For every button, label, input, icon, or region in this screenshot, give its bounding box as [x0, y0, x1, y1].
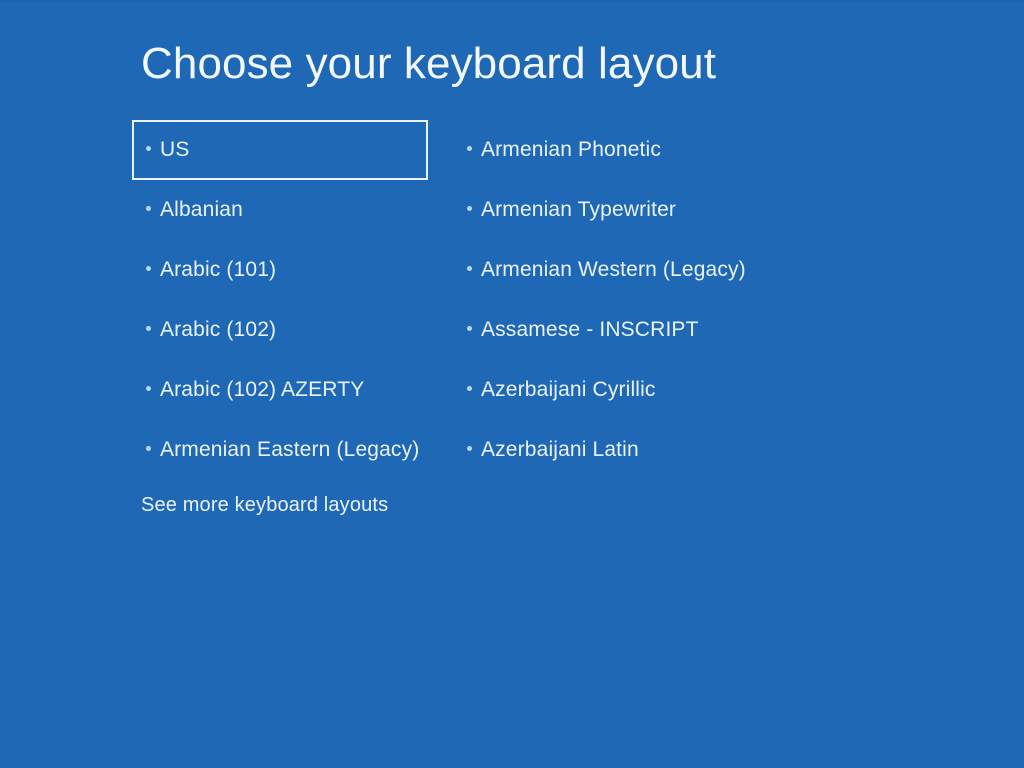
bullet-dot-icon — [467, 446, 472, 451]
bullet-dot-icon — [146, 146, 151, 151]
bullet-dot-icon — [146, 266, 151, 271]
keyboard-layout-option-armenian-eastern-legacy[interactable]: Armenian Eastern (Legacy) — [132, 420, 428, 480]
keyboard-layout-option-azerbaijani-latin[interactable]: Azerbaijani Latin — [455, 420, 855, 480]
keyboard-layout-option-armenian-western-legacy[interactable]: Armenian Western (Legacy) — [455, 240, 855, 300]
keyboard-layout-option-label: Assamese - INSCRIPT — [481, 317, 699, 343]
keyboard-layout-option-label: Armenian Typewriter — [481, 197, 676, 223]
bullet-dot-icon — [146, 206, 151, 211]
keyboard-layout-option-label: Armenian Phonetic — [481, 137, 661, 163]
keyboard-layout-option-label: Armenian Western (Legacy) — [481, 257, 746, 283]
keyboard-layout-option-label: Armenian Eastern (Legacy) — [160, 437, 419, 463]
bullet-dot-icon — [146, 386, 151, 391]
bullet-dot-icon — [146, 446, 151, 451]
bullet-dot-icon — [146, 326, 151, 331]
keyboard-layout-column-left: USAlbanianArabic (101)Arabic (102)Arabic… — [132, 120, 428, 480]
bullet-dot-icon — [467, 386, 472, 391]
keyboard-layout-option-azerbaijani-cyrillic[interactable]: Azerbaijani Cyrillic — [455, 360, 855, 420]
keyboard-layout-option-armenian-phonetic[interactable]: Armenian Phonetic — [455, 120, 855, 180]
keyboard-layout-option-label: Arabic (101) — [160, 257, 276, 283]
keyboard-layout-option-label: Arabic (102) — [160, 317, 276, 343]
keyboard-layout-option-label: US — [160, 137, 189, 163]
keyboard-layout-option-label: Albanian — [160, 197, 243, 223]
keyboard-layout-option-assamese-inscript[interactable]: Assamese - INSCRIPT — [455, 300, 855, 360]
keyboard-layout-option-us[interactable]: US — [132, 120, 428, 180]
keyboard-layout-option-armenian-typewriter[interactable]: Armenian Typewriter — [455, 180, 855, 240]
bullet-dot-icon — [467, 326, 472, 331]
keyboard-layout-column-right: Armenian PhoneticArmenian TypewriterArme… — [455, 120, 855, 480]
keyboard-layout-option-label: Arabic (102) AZERTY — [160, 377, 364, 403]
keyboard-layout-option-arabic-102[interactable]: Arabic (102) — [132, 300, 428, 360]
keyboard-layout-option-arabic-102-azerty[interactable]: Arabic (102) AZERTY — [132, 360, 428, 420]
keyboard-layout-option-label: Azerbaijani Latin — [481, 437, 639, 463]
keyboard-layout-option-arabic-101[interactable]: Arabic (101) — [132, 240, 428, 300]
screen-top-edge — [0, 0, 1024, 3]
keyboard-layout-screen: Choose your keyboard layout USAlbanianAr… — [0, 0, 1024, 768]
keyboard-layout-option-label: Azerbaijani Cyrillic — [481, 377, 656, 403]
see-more-keyboard-layouts-link[interactable]: See more keyboard layouts — [141, 492, 388, 518]
keyboard-layout-option-albanian[interactable]: Albanian — [132, 180, 428, 240]
bullet-dot-icon — [467, 146, 472, 151]
bullet-dot-icon — [467, 206, 472, 211]
page-title: Choose your keyboard layout — [141, 37, 716, 91]
bullet-dot-icon — [467, 266, 472, 271]
